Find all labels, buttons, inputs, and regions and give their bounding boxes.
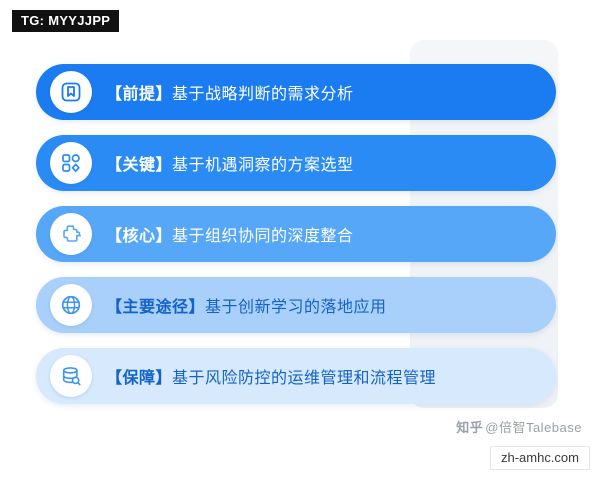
source-credit: 知乎@倍智Talebase [456, 417, 582, 436]
puzzle-piece-icon [50, 213, 92, 255]
bar-label-3: 【核心】基于组织协同的深度整合 [106, 222, 354, 246]
bookmark-icon [50, 71, 92, 113]
zhihu-logo-text: 知乎 [456, 420, 483, 435]
bar-body-4: 基于创新学习的落地应用 [205, 299, 387, 316]
bar-label-2: 【关键】基于机遇洞察的方案选型 [106, 151, 354, 175]
bar-row-1[interactable]: 【前提】基于战略判断的需求分析 [36, 64, 556, 120]
bar-tag-4: 【主要途径】 [106, 299, 205, 316]
globe-icon [50, 284, 92, 326]
diagram-canvas: TG: MYYJJPP 【前提】基于战略判断的需求分析 [0, 0, 600, 480]
grid-squares-icon [50, 142, 92, 184]
telegram-watermark: TG: MYYJJPP [12, 10, 119, 32]
bar-tag-2: 【关键】 [106, 157, 172, 174]
bar-row-3[interactable]: 【核心】基于组织协同的深度整合 [36, 206, 556, 262]
bar-body-3: 基于组织协同的深度整合 [172, 228, 354, 245]
bar-tag-1: 【前提】 [106, 86, 172, 103]
bar-row-4[interactable]: 【主要途径】基于创新学习的落地应用 [36, 277, 556, 333]
bar-body-1: 基于战略判断的需求分析 [172, 86, 354, 103]
bar-tag-5: 【保障】 [106, 370, 172, 387]
bar-body-5: 基于风险防控的运维管理和流程管理 [172, 370, 436, 387]
bar-tag-3: 【核心】 [106, 228, 172, 245]
bar-label-1: 【前提】基于战略判断的需求分析 [106, 80, 354, 104]
bar-body-2: 基于机遇洞察的方案选型 [172, 157, 354, 174]
site-watermark: zh-amhc.com [490, 446, 590, 470]
credit-author: @倍智Talebase [485, 420, 582, 435]
bar-row-2[interactable]: 【关键】基于机遇洞察的方案选型 [36, 135, 556, 191]
bar-label-5: 【保障】基于风险防控的运维管理和流程管理 [106, 364, 436, 388]
bar-label-4: 【主要途径】基于创新学习的落地应用 [106, 293, 387, 317]
bar-stack: 【前提】基于战略判断的需求分析 【关键】基于机遇洞察的方案选型 [36, 64, 556, 419]
database-icon [50, 355, 92, 397]
bar-row-5[interactable]: 【保障】基于风险防控的运维管理和流程管理 [36, 348, 556, 404]
